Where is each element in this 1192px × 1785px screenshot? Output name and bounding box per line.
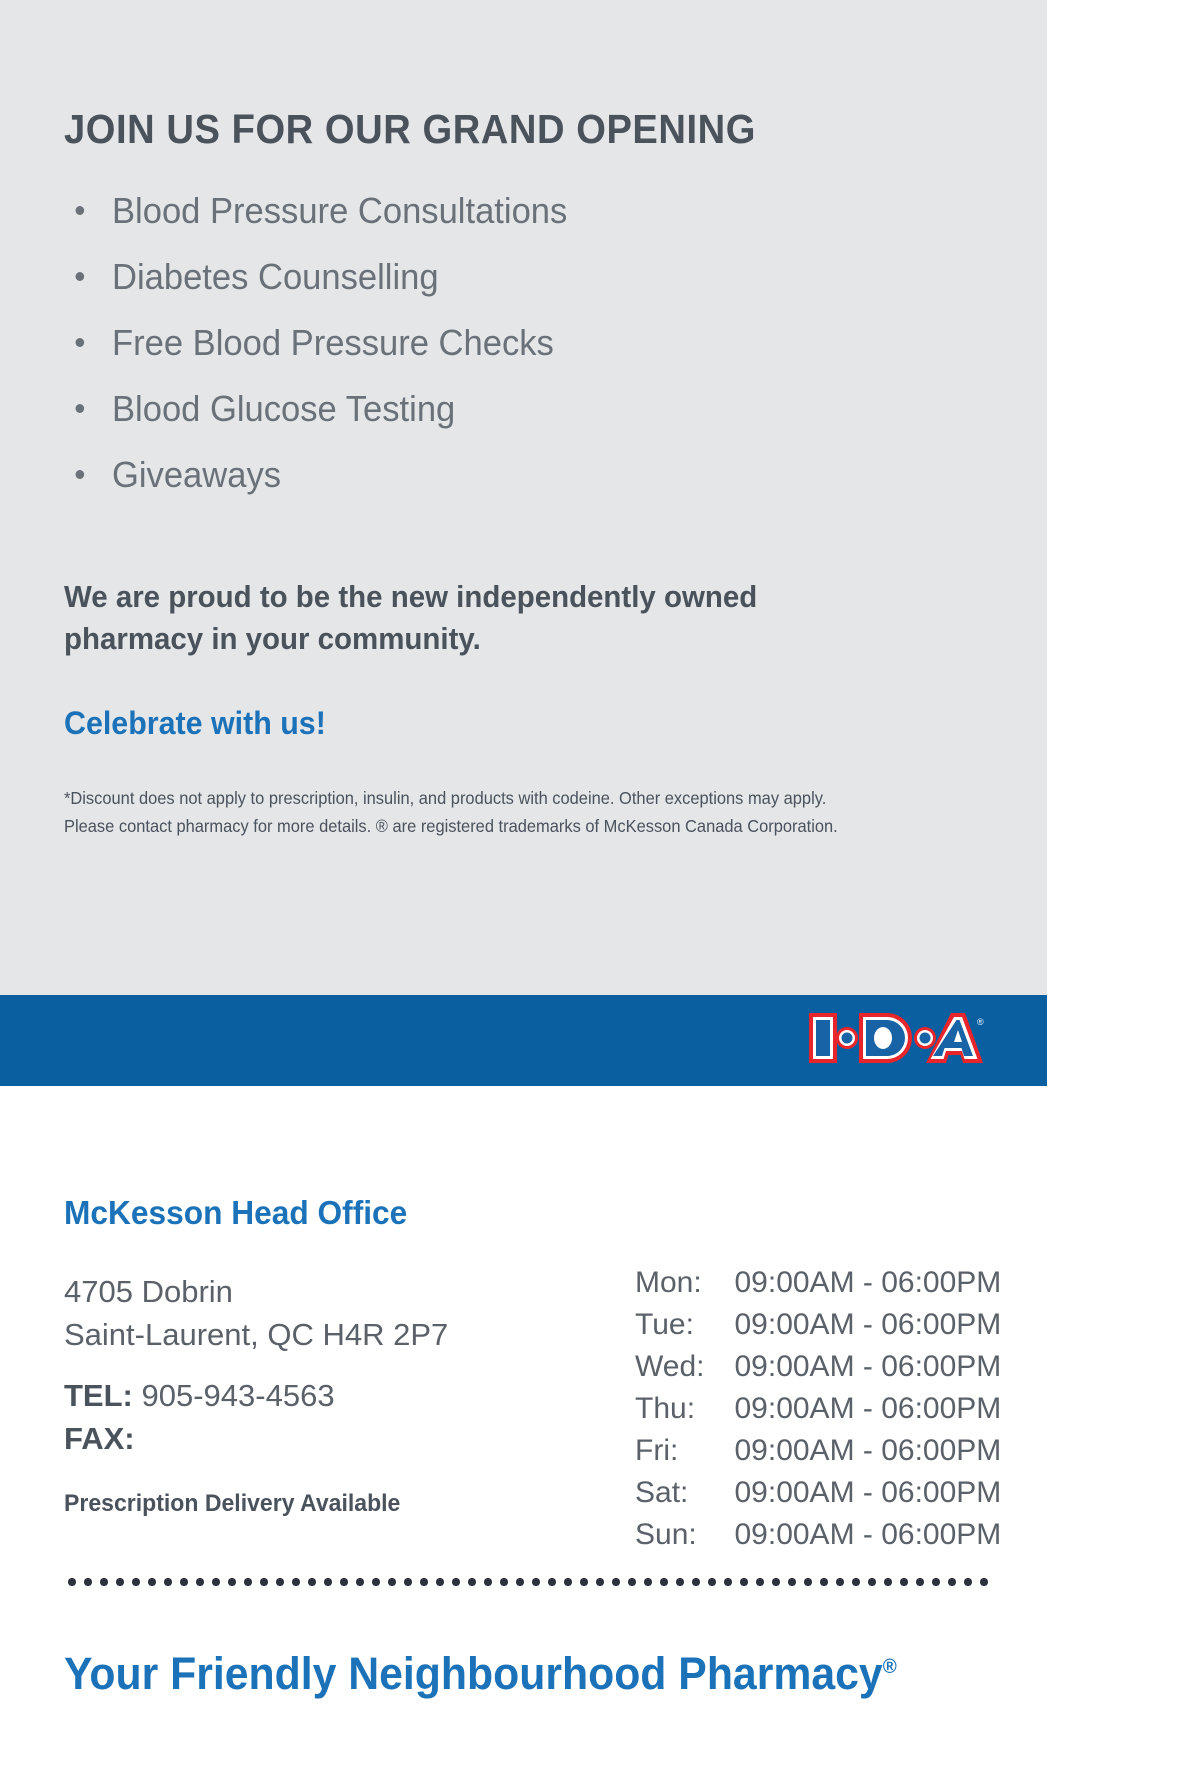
hours-time: 09:00AM - 06:00PM (734, 1346, 1001, 1388)
list-item: Blood Glucose Testing (64, 376, 890, 442)
hours-day: Fri: (635, 1430, 734, 1472)
table-row: Sun:09:00AM - 06:00PM (635, 1514, 1001, 1556)
services-list: Blood Pressure Consultations Diabetes Co… (64, 178, 924, 508)
bullet-icon (76, 206, 85, 215)
disclaimer-line-2: Please contact pharmacy for more details… (64, 812, 940, 840)
registered-mark: ® (977, 1017, 984, 1027)
store-phones: TEL: 905-943-4563 FAX: (64, 1374, 335, 1460)
promo-statement: We are proud to be the new independently… (64, 576, 891, 660)
tagline-text: Your Friendly Neighbourhood Pharmacy (64, 1648, 883, 1699)
service-label: Blood Glucose Testing (112, 388, 455, 429)
address-line-2: Saint-Laurent, QC H4R 2P7 (64, 1313, 448, 1356)
table-row: Mon:09:00AM - 06:00PM (635, 1262, 1001, 1304)
bullet-icon (76, 470, 85, 479)
brand-bar: ® (0, 995, 1047, 1086)
store-hours-table: Mon:09:00AM - 06:00PM Tue:09:00AM - 06:0… (635, 1262, 1001, 1556)
table-row: Fri:09:00AM - 06:00PM (635, 1430, 1001, 1472)
table-row: Tue:09:00AM - 06:00PM (635, 1304, 1001, 1346)
list-item: Diabetes Counselling (64, 244, 890, 310)
bullet-icon (76, 338, 85, 347)
bullet-icon (76, 404, 85, 413)
list-item: Free Blood Pressure Checks (64, 310, 890, 376)
tel-value[interactable]: 905-943-4563 (142, 1378, 335, 1413)
hours-day: Sat: (635, 1472, 734, 1514)
dotted-divider (64, 1578, 988, 1586)
bullet-icon (76, 272, 85, 281)
registered-mark-icon: ® (883, 1656, 897, 1678)
disclaimer-line-1: *Discount does not apply to prescription… (64, 784, 940, 812)
hours-time: 09:00AM - 06:00PM (734, 1430, 1001, 1472)
store-name: McKesson Head Office (64, 1194, 407, 1232)
service-label: Blood Pressure Consultations (112, 190, 567, 231)
store-address: 4705 Dobrin Saint-Laurent, QC H4R 2P7 (64, 1270, 448, 1356)
list-item: Giveaways (64, 442, 890, 508)
table-row: Thu:09:00AM - 06:00PM (635, 1388, 1001, 1430)
service-label: Free Blood Pressure Checks (112, 322, 554, 363)
hours-time: 09:00AM - 06:00PM (734, 1262, 1001, 1304)
disclaimer-text: *Discount does not apply to prescription… (64, 784, 940, 840)
hours-day: Thu: (635, 1388, 734, 1430)
service-label: Giveaways (112, 454, 281, 495)
address-line-1: 4705 Dobrin (64, 1270, 448, 1313)
tel-label: TEL: (64, 1378, 133, 1413)
hours-time: 09:00AM - 06:00PM (734, 1472, 1001, 1514)
hours-day: Sun: (635, 1514, 734, 1556)
list-item: Blood Pressure Consultations (64, 178, 890, 244)
ida-logo-icon: ® (807, 1009, 985, 1067)
hours-day: Tue: (635, 1304, 734, 1346)
promo-panel: JOIN US FOR OUR GRAND OPENING Blood Pres… (0, 0, 1047, 995)
flyer-page: JOIN US FOR OUR GRAND OPENING Blood Pres… (0, 0, 1047, 1785)
service-label: Diabetes Counselling (112, 256, 439, 297)
hours-time: 09:00AM - 06:00PM (734, 1514, 1001, 1556)
fax-label: FAX: (64, 1421, 135, 1456)
hours-time: 09:00AM - 06:00PM (734, 1304, 1001, 1346)
telephone-row: TEL: 905-943-4563 (64, 1374, 335, 1417)
celebrate-headline: Celebrate with us! (64, 705, 326, 742)
table-row: Sat:09:00AM - 06:00PM (635, 1472, 1001, 1514)
footer-tagline: Your Friendly Neighbourhood Pharmacy® (64, 1648, 897, 1700)
hours-time: 09:00AM - 06:00PM (734, 1388, 1001, 1430)
hours-day: Wed: (635, 1346, 734, 1388)
table-row: Wed:09:00AM - 06:00PM (635, 1346, 1001, 1388)
hours-day: Mon: (635, 1262, 734, 1304)
delivery-note: Prescription Delivery Available (64, 1490, 400, 1518)
page-title: JOIN US FOR OUR GRAND OPENING (64, 106, 756, 153)
fax-row: FAX: (64, 1417, 335, 1460)
